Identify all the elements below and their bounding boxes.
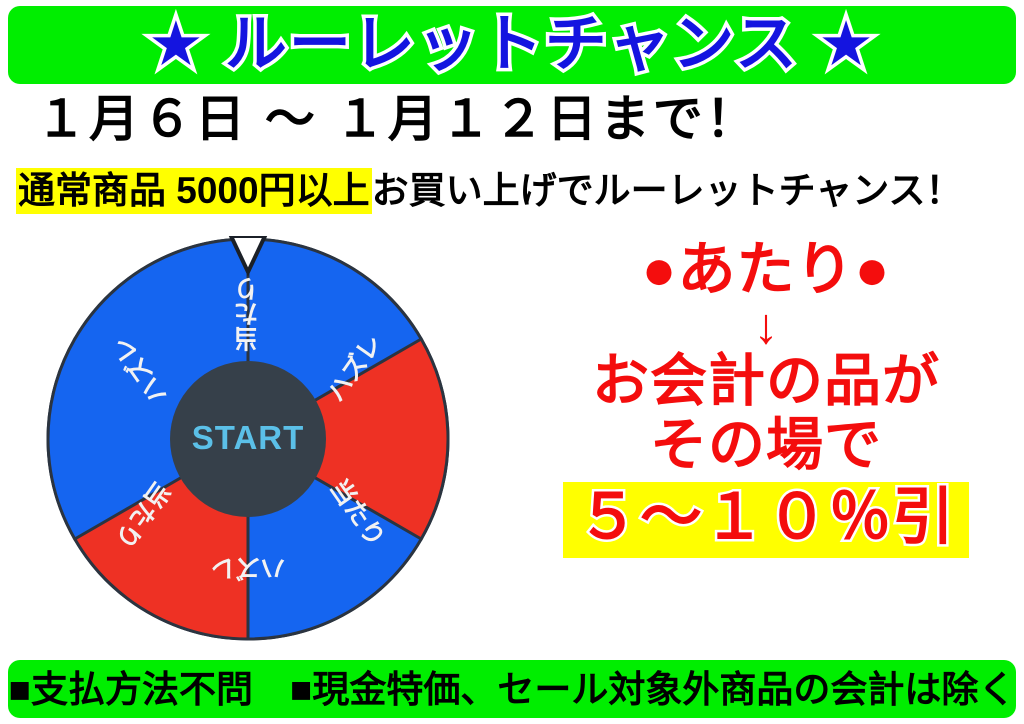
condition-highlight: 通常商品 5000円以上 xyxy=(16,168,372,214)
page-title: ★ ルーレットチャンス ★ xyxy=(148,14,876,76)
benefit-line-1: お会計の品が xyxy=(520,350,1012,414)
down-arrow-icon: ↓ xyxy=(520,303,1012,351)
prize-info-column: ●あたり● ↓ お会計の品が その場で ５〜１０％引 xyxy=(520,240,1012,558)
discount-highlight: ５〜１０％引 xyxy=(563,482,969,558)
condition-rest: お買い上げでルーレットチャンス！ xyxy=(372,170,963,211)
wheel-label-lose-bottom: ハズレ xyxy=(210,553,285,582)
footer-notes: ■支払方法不問 ■現金特価、セール対象外商品の会計は除く xyxy=(9,671,1016,708)
discount-value: ５〜１０％引 xyxy=(577,484,955,552)
purchase-condition-line: 通常商品 5000円以上お買い上げでルーレットチャンス！ xyxy=(16,170,962,213)
footer-banner: ■支払方法不問 ■現金特価、セール対象外商品の会計は除く xyxy=(8,660,1016,718)
start-label: START xyxy=(192,419,305,456)
roulette-wheel[interactable]: 当たり ハズレ 当たり ハズレ 当たり ハズレ START xyxy=(45,236,451,642)
wheel-label-win-top: 当たり xyxy=(234,277,262,352)
campaign-date-range: １月６日 〜 １月１２日まで！ xyxy=(36,92,759,147)
header-banner: ★ ルーレットチャンス ★ xyxy=(8,6,1016,84)
atari-heading: ●あたり● xyxy=(520,240,1012,301)
benefit-line-2: その場で xyxy=(520,414,1012,478)
